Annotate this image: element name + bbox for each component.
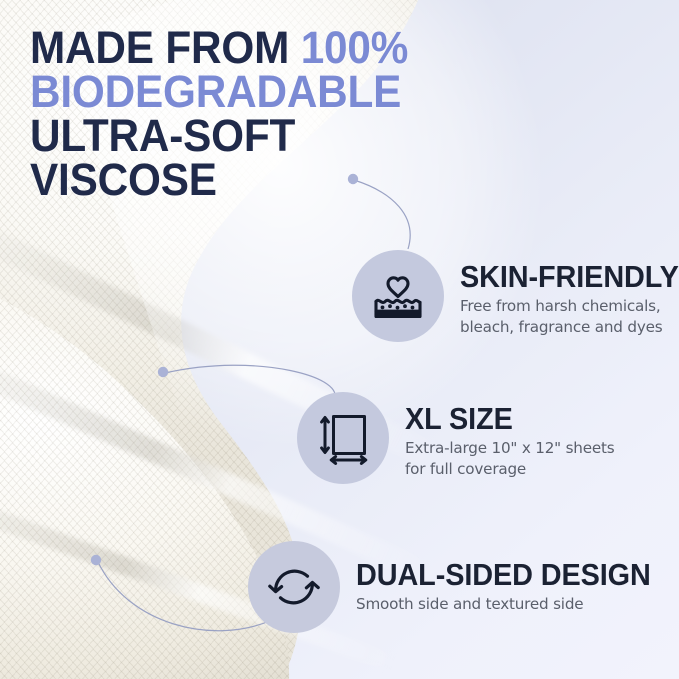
feature-desc-dual-sided-design: Smooth side and textured side xyxy=(356,594,673,615)
feature-text-xl-size: XL SIZE Extra-large 10" x 12" sheets for… xyxy=(405,392,614,480)
feature-dual-sided-design: DUAL-SIDED DESIGN Smooth side and textur… xyxy=(248,541,673,633)
skin-layers-heart-icon xyxy=(352,250,444,342)
feature-text-skin-friendly: SKIN-FRIENDLY Free from harsh chemicals,… xyxy=(460,250,679,338)
feature-desc-line-1: Extra-large 10" x 12" sheets xyxy=(405,438,614,459)
sheet-dimensions-icon xyxy=(297,392,389,484)
feature-desc-xl-size: Extra-large 10" x 12" sheets for full co… xyxy=(405,438,614,480)
page-title: MADE FROM 100% BIODEGRADABLE ULTRA-SOFT … xyxy=(30,26,425,202)
feature-xl-size: XL SIZE Extra-large 10" x 12" sheets for… xyxy=(297,392,614,484)
feature-desc-line-2: for full coverage xyxy=(405,459,614,480)
feature-text-dual-sided-design: DUAL-SIDED DESIGN Smooth side and textur… xyxy=(356,541,673,615)
feature-desc-line-1: Smooth side and textured side xyxy=(356,594,673,615)
headline-line-4: VISCOSE xyxy=(30,158,425,202)
feature-title-xl-size: XL SIZE xyxy=(405,402,600,435)
feature-title-skin-friendly: SKIN-FRIENDLY xyxy=(460,260,679,293)
product-infographic: MADE FROM 100% BIODEGRADABLE ULTRA-SOFT … xyxy=(0,0,679,679)
feature-skin-friendly: SKIN-FRIENDLY Free from harsh chemicals,… xyxy=(352,250,679,342)
feature-title-dual-sided-design: DUAL-SIDED DESIGN xyxy=(356,558,651,591)
headline-line-2: BIODEGRADABLE xyxy=(30,70,425,114)
feature-desc-line-1: Free from harsh chemicals, xyxy=(460,296,679,317)
feature-desc-line-2: bleach, fragrance and dyes xyxy=(460,317,679,338)
headline-line-3: ULTRA-SOFT xyxy=(30,114,425,158)
rotating-arrows-icon xyxy=(248,541,340,633)
feature-desc-skin-friendly: Free from harsh chemicals, bleach, fragr… xyxy=(460,296,679,338)
headline-line-1: MADE FROM 100% xyxy=(30,26,425,70)
